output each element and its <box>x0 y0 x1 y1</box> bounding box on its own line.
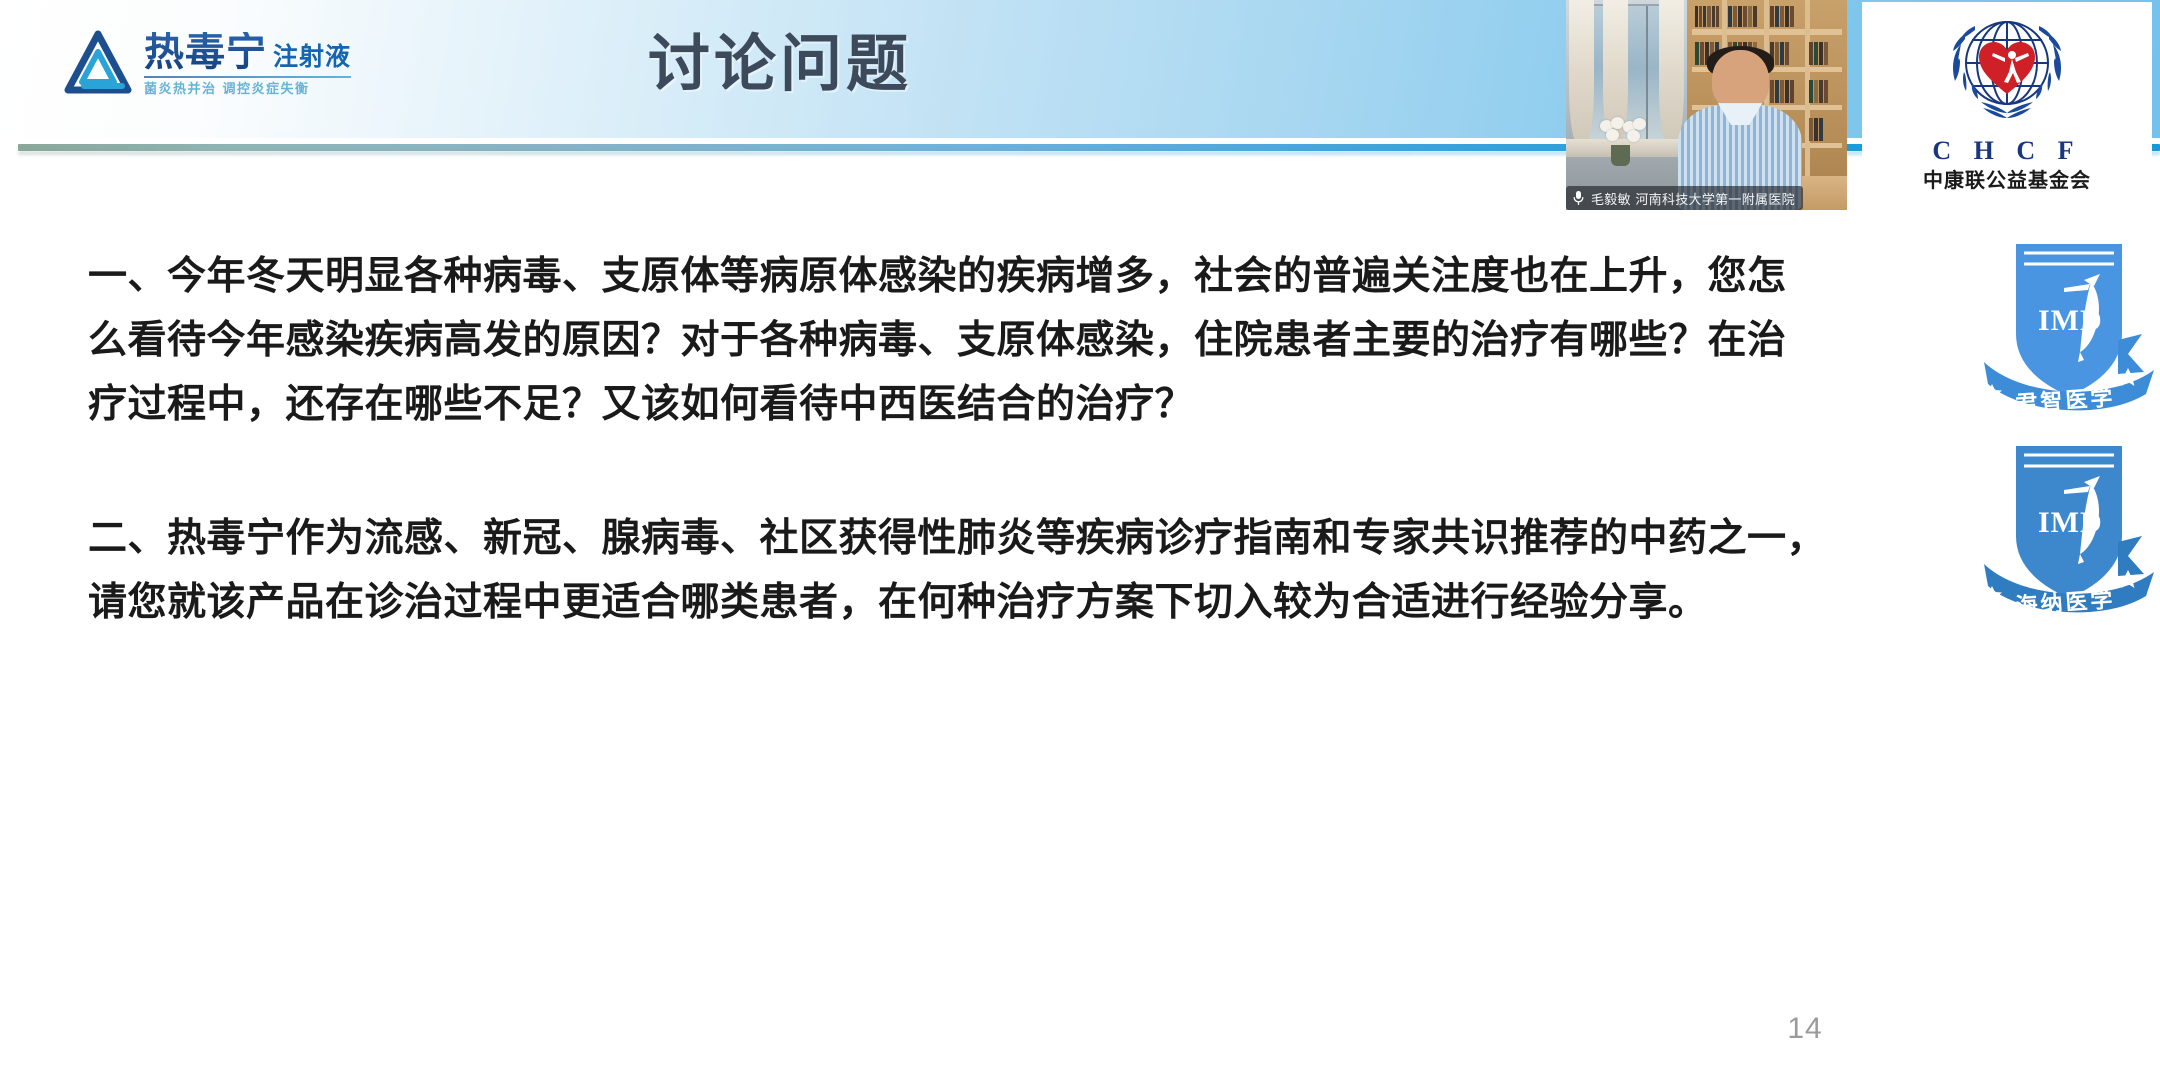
product-tagline: 菌炎热并治 调控炎症失衡 <box>144 83 351 96</box>
participant-name-label: 毛毅敏 河南科技大学第一附属医院 <box>1591 189 1795 208</box>
globe-heart-laurel-icon <box>1931 6 2083 140</box>
imd-badge-haina: IMD 海纳医学 <box>1978 424 2160 624</box>
question-line: 一、今年冬天明显各种病毒、支原体等病原体感染的疾病增多，社会的普遍关注度也在上升… <box>88 245 1958 309</box>
product-form-name: 注射液 <box>273 44 351 69</box>
video-scene <box>1566 0 1847 210</box>
shield-bird-icon: IMD 海纳医学 <box>1978 424 2160 624</box>
participant-name-bar: 毛毅敏 河南科技大学第一附属医院 <box>1566 186 1803 210</box>
chcf-name: 中康联公益基金会 <box>1923 170 2091 190</box>
question-line: 疗过程中，还存在哪些不足？又该如何看待中西医结合的治疗？ <box>88 373 1958 437</box>
slide-root: 讨论问题 热毒宁 注射液 菌炎热并治 调控炎症失衡 <box>0 0 2160 1080</box>
question-item-1: 一、今年冬天明显各种病毒、支原体等病原体感染的疾病增多，社会的普遍关注度也在上升… <box>88 245 1958 437</box>
chcf-abbr: C H C F <box>1932 138 2081 164</box>
chcf-logo: C H C F 中康联公益基金会 <box>1862 2 2152 218</box>
question-list: 一、今年冬天明显各种病毒、支原体等病原体感染的疾病增多，社会的普遍关注度也在上升… <box>88 245 1958 705</box>
question-line: 么看待今年感染疾病高发的原因？对于各种病毒、支原体感染，住院患者主要的治疗有哪些… <box>88 309 1958 373</box>
logo-rule <box>144 76 351 78</box>
question-item-2: 二、热毒宁作为流感、新冠、腺病毒、社区获得性肺炎等疾病诊疗指南和专家共识推荐的中… <box>88 507 1958 635</box>
shield-bird-icon: IMD 君智医学 <box>1978 222 2160 422</box>
question-line: 二、热毒宁作为流感、新冠、腺病毒、社区获得性肺炎等疾病诊疗指南和专家共识推荐的中… <box>88 507 1958 571</box>
product-brand-name: 热毒宁 <box>144 32 267 72</box>
participant-video-tile[interactable] <box>1566 0 1847 210</box>
triangle-emblem-icon <box>62 28 134 100</box>
imd-badge-junzhi: IMD 君智医学 <box>1978 222 2160 422</box>
microphone-icon <box>1572 190 1585 206</box>
question-line: 请您就该产品在诊治过程中更适合哪类患者，在何种治疗方案下切入较为合适进行经验分享… <box>88 571 1958 635</box>
page-number: 14 <box>1760 1012 1850 1046</box>
product-logo: 热毒宁 注射液 菌炎热并治 调控炎症失衡 <box>62 18 362 110</box>
product-logo-text: 热毒宁 注射液 菌炎热并治 调控炎症失衡 <box>144 32 351 96</box>
